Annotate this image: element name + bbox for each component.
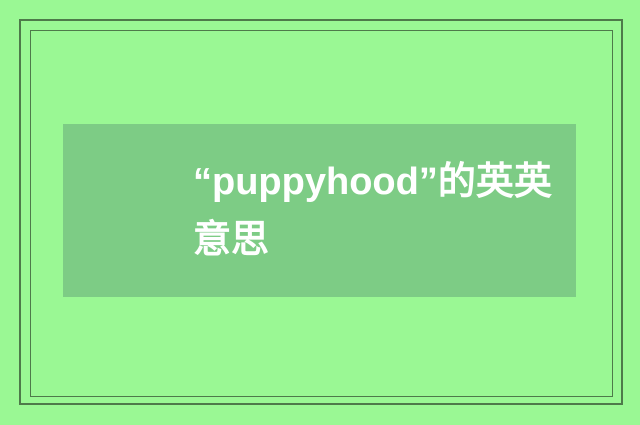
page-title: “puppyhood”的英英意思 — [63, 153, 576, 269]
poster-canvas: “puppyhood”的英英意思 — [0, 0, 640, 425]
title-band: “puppyhood”的英英意思 — [63, 124, 576, 297]
